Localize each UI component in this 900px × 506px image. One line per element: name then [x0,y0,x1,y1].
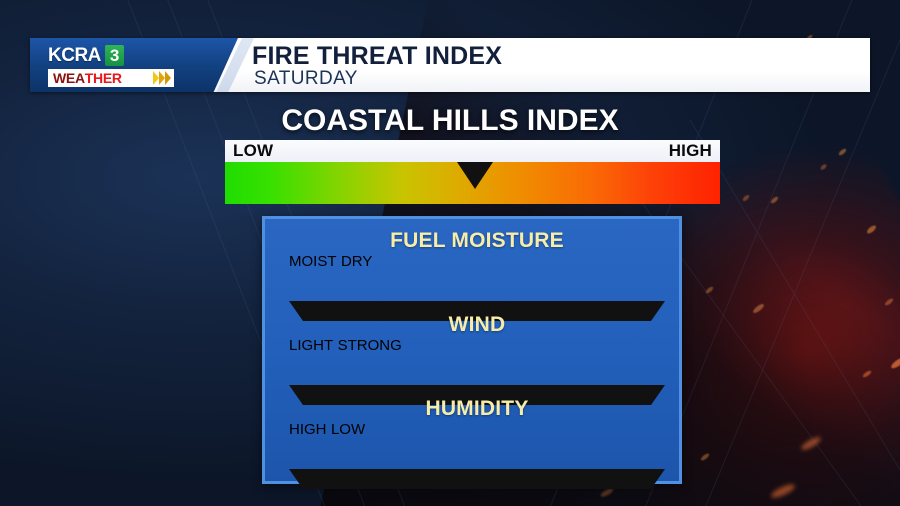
gauge-right-label: STRONG [338,337,402,354]
sub-gauge-title: HUMIDITY [289,397,665,421]
humidity-gauge: HUMIDITY HIGH LOW [289,397,665,489]
main-gauge-title: COASTAL HILLS INDEX [0,104,900,138]
weather-word-part1: WEA [53,70,85,86]
gauge-gradient-bar [289,357,665,385]
weather-word-part2: THER [85,70,122,86]
sub-gauge-title: FUEL MOISTURE [289,229,665,253]
sub-gauge-title: WIND [289,313,665,337]
gauge-left-label: MOIST [289,253,337,270]
weather-wordmark: WEA THER [48,69,174,87]
coastal-hills-index-gauge: LOW HIGH [225,140,720,204]
gauge-left-label: HIGH [289,421,327,438]
kcra-wordmark: KCRA [48,46,101,65]
gauge-right-label: LOW [331,421,365,438]
down-triangle-marker-icon [289,469,665,489]
logo-top-row: KCRA 3 [48,45,184,66]
channel-number-badge: 3 [105,45,124,66]
gauge-bar-wrap [289,441,665,489]
gauge-left-label: LOW [233,141,273,161]
gauge-gradient-bar [289,273,665,301]
header-bar: KCRA 3 WEA THER FIRE THREAT INDEX SATURD… [30,38,870,92]
page-subtitle-day: SATURDAY [254,68,358,89]
page-title: FIRE THREAT INDEX [252,43,502,70]
kcra-weather-logo: KCRA 3 WEA THER [48,45,184,87]
gauge-left-label: LIGHT [289,337,333,354]
gauge-label-strip: LOW HIGH [225,140,720,162]
sub-factors-panel: FUEL MOISTURE MOIST DRY WIND LIGHT STRON… [262,216,682,484]
gauge-bar-wrap [225,162,720,204]
gauge-label-strip: HIGH LOW [289,421,665,441]
gauge-right-label: HIGH [669,141,712,161]
weather-graphic-stage: KCRA 3 WEA THER FIRE THREAT INDEX SATURD… [0,0,900,506]
gauge-label-strip: LIGHT STRONG [289,337,665,357]
down-triangle-marker-icon [457,162,493,189]
double-chevron-right-icon [153,71,172,85]
gauge-right-label: DRY [341,253,372,270]
gauge-gradient-bar [289,441,665,469]
fuel-moisture-gauge: FUEL MOISTURE MOIST DRY [289,229,665,321]
gauge-label-strip: MOIST DRY [289,253,665,273]
wind-gauge: WIND LIGHT STRONG [289,313,665,405]
